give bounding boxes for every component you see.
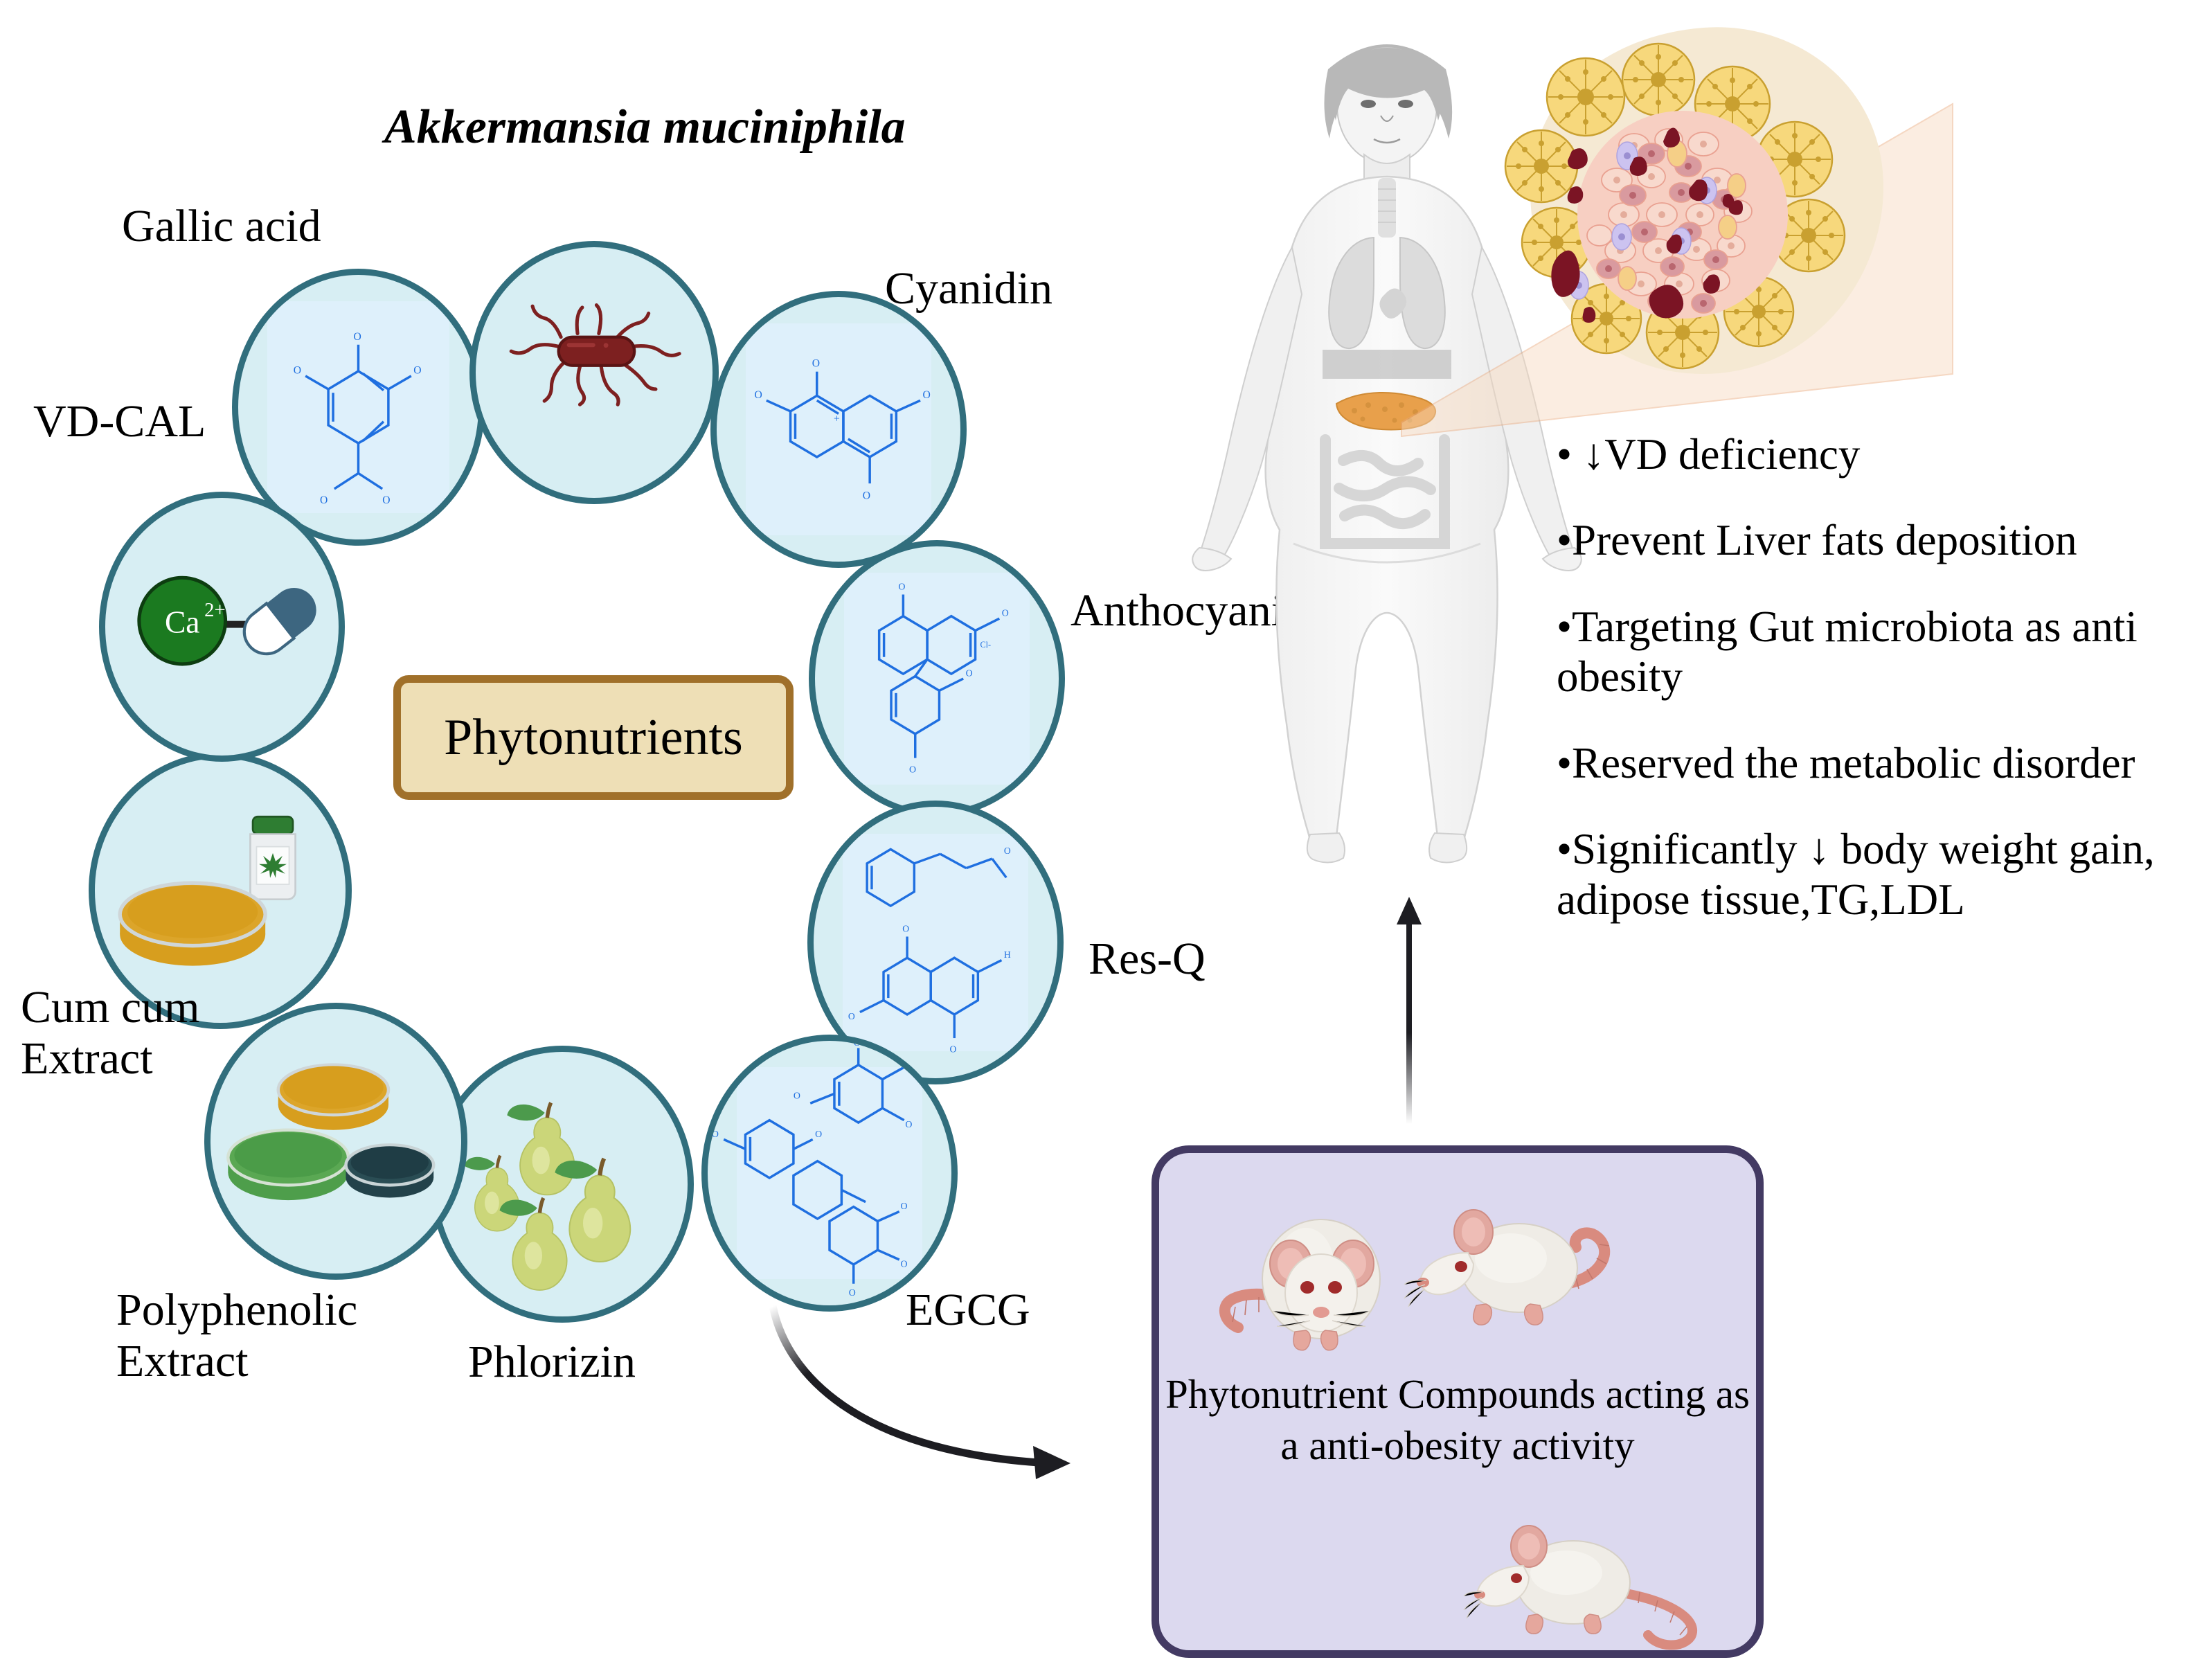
label-res-q: Res-Q bbox=[1088, 933, 1206, 985]
label-gallic-acid: Gallic acid bbox=[122, 201, 321, 252]
node-anthocyanins[interactable]: O O O O Cl- bbox=[809, 540, 1065, 817]
svg-text:O: O bbox=[815, 1129, 822, 1140]
rat-front-icon bbox=[1217, 1196, 1425, 1373]
molecule-structure-icon: O O O O + bbox=[717, 297, 960, 562]
svg-text:O: O bbox=[794, 1091, 800, 1101]
svg-text:O: O bbox=[854, 1041, 861, 1048]
svg-text:O: O bbox=[382, 494, 390, 506]
svg-text:Cl-: Cl- bbox=[980, 640, 992, 650]
svg-text:O: O bbox=[900, 1259, 907, 1269]
outcome-item: •Significantly ↓ body weight gain, adipo… bbox=[1557, 824, 2180, 924]
outcome-item: •Targeting Gut microbiota as anti obesit… bbox=[1557, 602, 2180, 702]
label-cum-cum-extract: Cum cum Extract bbox=[21, 982, 200, 1084]
pears-icon bbox=[437, 1052, 688, 1316]
svg-text:O: O bbox=[413, 364, 421, 376]
upward-arrow-icon bbox=[1395, 897, 1405, 1125]
label-cyanidin: Cyanidin bbox=[885, 263, 1052, 314]
figure-title: Akkermansia muciniphila bbox=[384, 100, 906, 154]
node-cyanidin[interactable]: O O O O + bbox=[710, 291, 967, 568]
label-vd-cal: VD-CAL bbox=[33, 396, 206, 447]
svg-text:O: O bbox=[863, 490, 870, 502]
node-vd-cal[interactable]: Ca 2+ bbox=[99, 492, 345, 762]
svg-text:+: + bbox=[834, 413, 840, 425]
outcome-item: •Reserved the metabolic disorder bbox=[1557, 738, 2180, 788]
calcium-capsule-icon: Ca 2+ bbox=[105, 498, 339, 756]
svg-text:O: O bbox=[848, 1011, 855, 1021]
molecule-structure-icon: O O O O Cl- bbox=[815, 546, 1059, 811]
adipose-tissue-icon bbox=[1496, 7, 1925, 395]
center-label-box: Phytonutrients bbox=[393, 675, 794, 800]
svg-text:Ca: Ca bbox=[165, 604, 200, 639]
svg-text:O: O bbox=[905, 1057, 912, 1068]
svg-text:O: O bbox=[712, 1129, 719, 1140]
figure-canvas: Akkermansia muciniphila O O O O O bbox=[0, 0, 2186, 1680]
svg-text:O: O bbox=[966, 669, 973, 679]
outcome-item: • ↓VD deficiency bbox=[1557, 429, 2180, 479]
node-akkermansia[interactable] bbox=[469, 241, 719, 504]
molecule-structure-icon: O O O O O O O O O bbox=[708, 1041, 951, 1305]
svg-text:O: O bbox=[902, 924, 909, 934]
label-polyphenolic-extract: Polyphenolic Extract bbox=[116, 1285, 357, 1387]
svg-text:O: O bbox=[898, 582, 905, 593]
svg-text:O: O bbox=[354, 331, 361, 343]
svg-text:H: H bbox=[1004, 949, 1011, 960]
svg-text:O: O bbox=[909, 765, 916, 775]
node-egcg[interactable]: O O O O O O O O O bbox=[701, 1035, 958, 1312]
svg-text:O: O bbox=[754, 389, 762, 401]
rat-box-caption: Phytonutrient Compounds acting as a anti… bbox=[1159, 1369, 1756, 1472]
svg-text:O: O bbox=[900, 1201, 907, 1212]
petri-dishes-icon bbox=[210, 1009, 461, 1274]
svg-text:O: O bbox=[923, 389, 931, 401]
svg-text:O: O bbox=[294, 364, 301, 376]
curved-arrow-icon bbox=[720, 1295, 1108, 1496]
outcomes-list: • ↓VD deficiency •Prevent Liver fats dep… bbox=[1557, 429, 2180, 960]
bacterium-icon bbox=[476, 247, 713, 498]
rat-side-icon bbox=[1401, 1186, 1630, 1359]
node-polyphenolic-extract[interactable] bbox=[204, 1003, 467, 1280]
svg-text:O: O bbox=[905, 1120, 912, 1130]
anti-obesity-activity-box: Phytonutrient Compounds acting as a anti… bbox=[1152, 1145, 1764, 1658]
svg-text:O: O bbox=[812, 358, 820, 370]
center-label-text: Phytonutrients bbox=[444, 708, 743, 767]
svg-text:O: O bbox=[1004, 846, 1011, 856]
svg-text:2+: 2+ bbox=[204, 599, 225, 621]
node-phlorizin[interactable] bbox=[431, 1046, 694, 1323]
svg-text:O: O bbox=[1002, 609, 1009, 619]
outcome-item: •Prevent Liver fats deposition bbox=[1557, 515, 2180, 565]
label-phlorizin: Phlorizin bbox=[468, 1337, 636, 1388]
rat-small-icon bbox=[1462, 1501, 1719, 1660]
